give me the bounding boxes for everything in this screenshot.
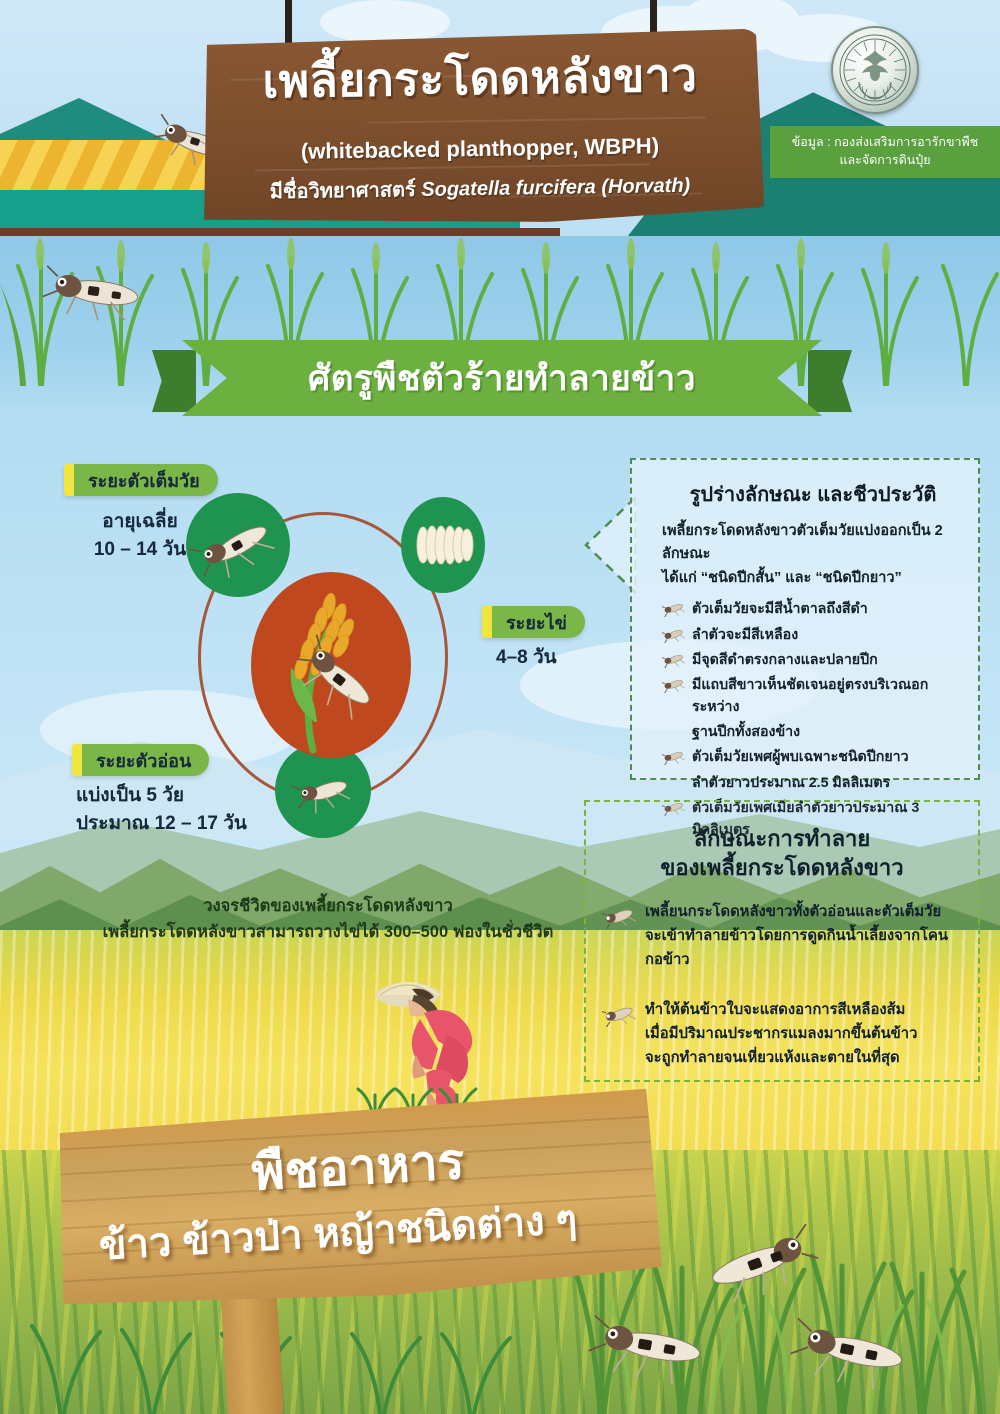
damage-item-line: จะเข้าทำลายข้าวโดยการดูดกินน้ำเลี้ยงจากโ… <box>645 925 962 973</box>
infographic-poster: เพลี้ยกระโดดหลังขาว (whitebacked plantho… <box>0 0 1000 1414</box>
ribbon-text: ศัตรูพืชตัวร้ายทำลายข้าว <box>308 351 696 406</box>
lifecycle-caption-line1: วงจรชีวิตของเพลี้ยกระโดดหลังขาว <box>68 894 588 920</box>
ribbon-tail-right <box>808 350 852 412</box>
scientific-name: Sogatella furcifera (Horvath) <box>421 175 690 201</box>
morphology-title: รูปร่างลักษณะ และชีวประวัติ <box>662 478 964 510</box>
sign-hanging-post <box>285 0 292 46</box>
lifecycle-caption-line2: เพลี้ยกระโดดหลังขาวสามารถวางไข่ได้ 300–5… <box>68 920 588 946</box>
info-box-pointer <box>584 495 636 595</box>
stage-note-adult-line2: 10 – 14 วัน <box>80 536 200 564</box>
stage-note-nymph-line1: แบ่งเป็น 5 วัย <box>76 782 247 810</box>
tag-accent-bar <box>482 606 492 638</box>
morphology-bullet: มีแถบสีขาวเห็นชัดเจนอยู่ตรงบริเวณอกระหว่… <box>662 674 964 718</box>
damage-item-line: เมื่อมีปริมาณประชากรแมลงมากขึ้นต้นข้าว <box>645 1023 917 1047</box>
damage-item-text: เพลี้ยนกระโดดหลังขาวทั้งตัวอ่อนและตัวเต็… <box>645 901 962 973</box>
credit-line-2: และจัดการดินปุ๋ย <box>770 151 1000 169</box>
morphology-bullet: ลำตัวจะมีสีเหลือง <box>662 624 964 646</box>
morphology-info-box: รูปร่างลักษณะ และชีวประวัติ เพลี้ยกระโดด… <box>630 458 980 780</box>
section-ribbon: ศัตรูพืชตัวร้ายทำลายข้าว <box>152 340 852 422</box>
planthopper-bullet-icon <box>602 905 636 929</box>
damage-item: เพลี้ยนกระโดดหลังขาวทั้งตัวอ่อนและตัวเต็… <box>602 901 962 973</box>
tag-accent-bar <box>64 464 74 496</box>
stage-tag-adult: ระยะตัวเต็มวัย <box>64 464 218 496</box>
morphology-bullet: มีจุดสีดำตรงกลางและปลายปีก <box>662 649 964 671</box>
stage-tag-adult-label: ระยะตัวเต็มวัย <box>74 464 218 496</box>
damage-info-box: ลักษณะการทำลาย ของเพลี้ยกระโดดหลังขาว เพ… <box>584 800 980 1082</box>
stage-tag-nymph: ระยะตัวอ่อน <box>72 744 209 776</box>
lifecycle-center-illustration <box>251 572 411 758</box>
adult-planthopper-icon <box>188 495 288 595</box>
damage-title: ลักษณะการทำลาย ของเพลี้ยกระโดดหลังขาว <box>602 824 962 883</box>
damage-item-line: จะถูกทำลายจนเหี่ยวแห้งและตายในที่สุด <box>645 1047 917 1071</box>
credit-line-1: ข้อมูล : กองส่งเสริมการอารักขาพืช <box>770 133 1000 151</box>
morphology-bullet: ตัวเต็มวัยเพศผู้พบเฉพาะชนิดปีกยาว <box>662 746 964 768</box>
planthopper-illustration <box>588 1300 718 1395</box>
planthopper-illustration <box>690 1218 820 1308</box>
damage-title-line1: ลักษณะการทำลาย <box>602 824 962 853</box>
egg-cluster-icon <box>401 497 485 593</box>
morphology-bullet-continued: ฐานปีกทั้งสองข้าง <box>662 721 964 743</box>
damage-item-line: เพลี้ยนกระโดดหลังขาวทั้งตัวอ่อนและตัวเต็… <box>645 901 962 925</box>
morphology-bullet-continued: ลำตัวยาวประมาณ 2.5 มิลลิเมตร <box>662 772 964 794</box>
morphology-bullet-text: ลำตัวจะมีสีเหลือง <box>692 624 798 646</box>
planthopper-bullet-icon <box>662 652 685 668</box>
lifecycle-node-egg <box>401 497 485 593</box>
royal-garuda-seal-icon <box>831 26 919 114</box>
stage-note-nymph-line2: ประมาณ 12 – 17 วัน <box>76 810 247 838</box>
stage-note-adult: อายุเฉลี่ย 10 – 14 วัน <box>80 508 200 563</box>
host-sign-post <box>220 1284 283 1414</box>
lifecycle-node-adult <box>186 493 290 597</box>
tag-accent-bar <box>72 744 82 776</box>
morphology-bullet-text: มีแถบสีขาวเห็นชัดเจนอยู่ตรงบริเวณอกระหว่… <box>692 674 964 718</box>
credit-band: ข้อมูล : กองส่งเสริมการอารักขาพืช และจัด… <box>770 126 1000 178</box>
planthopper-bullet-icon <box>602 1003 636 1027</box>
morphology-bullet-text: ตัวเต็มวัยจะมีสีน้ำตาลถึงสีดำ <box>692 598 868 620</box>
damage-title-line2: ของเพลี้ยกระโดดหลังขาว <box>602 853 962 882</box>
morphology-intro: เพลี้ยกระโดดหลังขาวตัวเต็มวัยแบ่งออกเป็น… <box>662 520 964 590</box>
morphology-intro-line1: เพลี้ยกระโดดหลังขาวตัวเต็มวัยแบ่งออกเป็น… <box>662 520 964 567</box>
damage-item: ทำให้ต้นข้าวใบจะแสดงอาการสีเหลืองส้ม เมื… <box>602 999 962 1071</box>
stage-tag-nymph-label: ระยะตัวอ่อน <box>82 744 209 776</box>
planthopper-bullet-icon <box>662 677 685 693</box>
planthopper-bullet-icon <box>662 627 685 643</box>
stage-note-adult-line1: อายุเฉลี่ย <box>80 508 200 536</box>
cloud-shape <box>320 0 450 44</box>
ribbon-banner: ศัตรูพืชตัวร้ายทำลายข้าว <box>182 340 822 416</box>
morphology-bullet-text: มีจุดสีดำตรงกลางและปลายปีก <box>692 649 878 671</box>
planthopper-bullet-icon <box>662 749 685 765</box>
morphology-bullet-text: ตัวเต็มวัยเพศผู้พบเฉพาะชนิดปีกยาว <box>692 746 909 768</box>
planthopper-illustration <box>42 252 152 332</box>
planthopper-illustration <box>790 1305 920 1400</box>
morphology-bullet: ตัวเต็มวัยจะมีสีน้ำตาลถึงสีดำ <box>662 598 964 620</box>
morphology-intro-line2: ได้แก่ “ชนิดปีกสั้น” และ “ชนิดปีกยาว” <box>662 567 964 590</box>
damage-item-text: ทำให้ต้นข้าวใบจะแสดงอาการสีเหลืองส้ม เมื… <box>645 999 917 1071</box>
lifecycle-caption: วงจรชีวิตของเพลี้ยกระโดดหลังขาว เพลี้ยกร… <box>68 894 588 945</box>
damage-item-line: ทำให้ต้นข้าวใบจะแสดงอาการสีเหลืองส้ม <box>645 999 917 1023</box>
stage-note-nymph: แบ่งเป็น 5 วัย ประมาณ 12 – 17 วัน <box>76 782 247 837</box>
page-title: เพลี้ยกระโดดหลังขาว <box>196 38 763 120</box>
planthopper-bullet-icon <box>662 601 685 617</box>
stage-tag-egg-label: ระยะไข่ <box>492 606 585 638</box>
sci-prefix: มีชื่อวิทยาศาสตร์ <box>270 179 422 203</box>
ribbon-tail-left <box>152 350 196 412</box>
farmer-illustration <box>350 955 510 1125</box>
stage-note-egg: 4–8 วัน <box>496 644 557 672</box>
stage-note-egg-line1: 4–8 วัน <box>496 644 557 672</box>
stage-tag-egg: ระยะไข่ <box>482 606 585 638</box>
